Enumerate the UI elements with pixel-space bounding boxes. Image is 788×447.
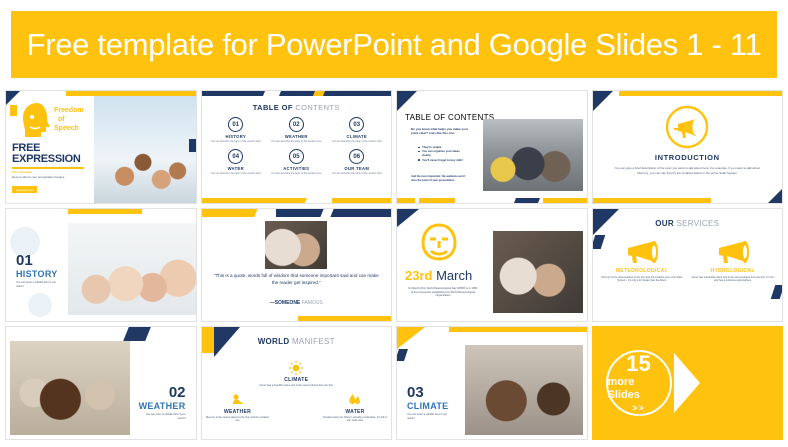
service-item[interactable]: METEOROLOGICAL Mercury is the closest pl… bbox=[599, 239, 686, 282]
manifest-item-weather[interactable]: WEATHER Mercury is the closest planet to… bbox=[206, 393, 270, 423]
list-item: You'll never forget to buy milk! bbox=[418, 158, 469, 162]
toc-number: 03 bbox=[349, 117, 364, 132]
slide-card-cover[interactable]: Freedom of Speech FREE EXPRESSION Free T… bbox=[5, 90, 197, 204]
justice-protest-photo bbox=[465, 345, 583, 435]
manifest-label: WEATHER bbox=[206, 409, 270, 415]
section-label: HISTORY bbox=[16, 269, 58, 279]
megaphone-circle-icon bbox=[665, 105, 709, 149]
services-heading-light: SERVICES bbox=[677, 219, 720, 228]
more-slides-label: more Slides bbox=[608, 376, 670, 400]
title-underline bbox=[12, 167, 84, 169]
cover-body: Here is where your presentation begins. bbox=[12, 175, 72, 179]
slide-card-section-weather[interactable]: 02 WEATHER You can enter a subtitle here… bbox=[5, 326, 197, 440]
section-label: CLIMATE bbox=[407, 401, 448, 411]
manifest-desc: Despite being red, Mars is actually a co… bbox=[323, 416, 387, 423]
sun-icon bbox=[289, 361, 303, 375]
toc-label: ACTIVITIES bbox=[268, 166, 325, 171]
manifest-desc: Venus has a beautiful name and is the se… bbox=[258, 384, 336, 387]
date-bold: 23rd bbox=[405, 268, 432, 283]
section-number: 01 bbox=[16, 253, 33, 268]
toc-list-intro: Do you know what helps you make your poi… bbox=[411, 127, 469, 135]
toc-number: 06 bbox=[349, 149, 364, 164]
services-heading: OUR SERVICES bbox=[593, 219, 783, 228]
service-desc: Mercury is the closest planet to the Sun… bbox=[599, 276, 686, 283]
toc-label: OUR TEAM bbox=[329, 166, 386, 171]
service-desc: Venus has a beautiful name and is the se… bbox=[689, 276, 776, 283]
toc-desc: You can describe the topic of the sectio… bbox=[208, 172, 265, 175]
chevron-right-icon: >> bbox=[632, 403, 645, 413]
toc-list-outro: And the most important: the audience won… bbox=[411, 175, 469, 182]
slide-card-introduction[interactable]: INTRODUCTION You can give a brief descri… bbox=[592, 90, 784, 204]
protester-with-sign-photo bbox=[265, 221, 327, 269]
introduction-title: INTRODUCTION bbox=[593, 153, 783, 162]
corner-accent-icon bbox=[593, 91, 613, 111]
toc-number: 02 bbox=[289, 117, 304, 132]
slide-card-our-services[interactable]: OUR SERVICES METEOROLOGICAL Mercury is t… bbox=[592, 208, 784, 322]
corner-accent-icon bbox=[397, 327, 425, 349]
toc-desc: You can describe the topic of the sectio… bbox=[329, 172, 386, 175]
megaphone-icon bbox=[624, 239, 660, 265]
toc-label: CLIMATE bbox=[329, 134, 386, 139]
manifest-item-water[interactable]: WATER Despite being red, Mars is actuall… bbox=[323, 393, 387, 423]
date-light: March bbox=[436, 268, 472, 283]
toc-item[interactable]: 05 ACTIVITIES You can describe the topic… bbox=[268, 149, 325, 175]
slides-grid: Freedom of Speech FREE EXPRESSION Free T… bbox=[5, 90, 783, 440]
toc-item[interactable]: 04 WATER You can describe the topic of t… bbox=[208, 149, 265, 175]
quote-text: "This is a quote, words full of wisdom t… bbox=[214, 273, 380, 287]
megaphone-shouting-photo bbox=[493, 231, 583, 313]
more-slides-cta-card[interactable]: 15 more Slides >> bbox=[592, 326, 784, 440]
quote-author-bold: —SOMEONE bbox=[270, 300, 301, 306]
megaphone-icon bbox=[715, 239, 751, 265]
toc-heading-bold: TABLE OF bbox=[253, 103, 293, 112]
manifest-heading-bold: WORLD bbox=[258, 337, 290, 346]
section-desc: You can enter a subtitle here if you nee… bbox=[140, 413, 186, 420]
toc-desc: You can describe the topic of the sectio… bbox=[208, 140, 265, 143]
water-icon bbox=[348, 393, 362, 407]
slide-card-date[interactable]: 23rd March On March 23rd, World Meteorol… bbox=[396, 208, 588, 322]
toc-heading-light: CONTENTS bbox=[295, 103, 339, 112]
toc-item[interactable]: 01 HISTORY You can describe the topic of… bbox=[208, 117, 265, 143]
cover-eyebrow-1: Freedom bbox=[54, 107, 84, 114]
toc-desc: You can describe the topic of the sectio… bbox=[329, 140, 386, 143]
header-banner: Free template for PowerPoint and Google … bbox=[11, 11, 777, 78]
pollution-protest-photo bbox=[10, 341, 130, 435]
section-desc: You can enter a subtitle here if you nee… bbox=[407, 413, 451, 420]
slide-card-section-climate[interactable]: 03 CLIMATE You can enter a subtitle here… bbox=[396, 326, 588, 440]
manifest-label: WATER bbox=[323, 409, 387, 415]
slide-card-table-of-contents[interactable]: TABLE OF CONTENTS 01 HISTORY You can des… bbox=[201, 90, 393, 204]
corner-accent-icon bbox=[123, 327, 151, 341]
list-item: You can organize your ideas clearly bbox=[418, 149, 469, 157]
toc-desc: You can describe the topic of the sectio… bbox=[268, 140, 325, 143]
service-label: HYDROLOGICAL bbox=[689, 268, 776, 274]
slide-card-toc-list[interactable]: TABLE OF CONTENTS Do you know what helps… bbox=[396, 90, 588, 204]
page-title: Free template for PowerPoint and Google … bbox=[27, 27, 762, 63]
corner-accent-icon bbox=[768, 189, 782, 203]
corner-accent-icon bbox=[397, 91, 417, 111]
raised-fists-photo bbox=[94, 96, 196, 203]
corner-accent-icon bbox=[6, 91, 20, 105]
corner-accent-icon bbox=[397, 209, 419, 227]
toc-desc: You can describe the topic of the sectio… bbox=[268, 172, 325, 175]
toc-label: HISTORY bbox=[208, 134, 265, 139]
slide-card-world-manifest[interactable]: WORLD MANIFEST CLIMATE Venus has a beaut… bbox=[201, 326, 393, 440]
introduction-body: You can give a brief description of the … bbox=[609, 166, 767, 175]
section-label: WEATHER bbox=[139, 401, 186, 411]
manifest-heading: WORLD MANIFEST bbox=[202, 337, 392, 346]
section-desc: You can enter a subtitle here if you nee… bbox=[16, 281, 62, 288]
toc-heading: TABLE OF CONTENTS bbox=[202, 103, 392, 112]
quote-author: —SOMEONE FAMOUS bbox=[202, 300, 392, 306]
decor-circle bbox=[28, 293, 52, 317]
manifest-item-climate[interactable]: CLIMATE Venus has a beautiful name and i… bbox=[258, 361, 336, 387]
cover-title-line2: EXPRESSION bbox=[12, 154, 81, 165]
date-desc: On March 23rd, World Meteorological Day … bbox=[407, 287, 479, 298]
head-silhouette-icon bbox=[20, 101, 54, 139]
service-label: METEOROLOGICAL bbox=[599, 268, 686, 274]
taped-mouths-photo bbox=[68, 223, 196, 315]
services-heading-bold: OUR bbox=[655, 219, 674, 228]
toc-number: 05 bbox=[289, 149, 304, 164]
toc-item[interactable]: 06 OUR TEAM You can describe the topic o… bbox=[329, 149, 386, 175]
toc-bullet-list: They're simple You can organize your ide… bbox=[413, 145, 469, 162]
more-slides-circle[interactable]: 15 more Slides >> bbox=[606, 350, 672, 416]
date-heading: 23rd March bbox=[405, 269, 472, 282]
toc-number: 04 bbox=[228, 149, 243, 164]
cover-eyebrow-2: of bbox=[58, 116, 65, 123]
section-number: 02 bbox=[169, 385, 186, 400]
manifest-label: CLIMATE bbox=[258, 377, 336, 383]
cover-subtitle: Free Template bbox=[12, 170, 32, 174]
cloud-icon bbox=[231, 393, 245, 407]
page-root: Free template for PowerPoint and Google … bbox=[0, 0, 788, 447]
slide-card-quote[interactable]: "This is a quote, words full of wisdom t… bbox=[201, 208, 393, 322]
more-slides-count: 15 bbox=[626, 353, 650, 375]
arrow-right-icon[interactable] bbox=[674, 353, 700, 413]
cover-cta-button[interactable]: slidesppt.net bbox=[12, 186, 37, 193]
slide-card-section-history[interactable]: 01 HISTORY You can enter a subtitle here… bbox=[5, 208, 197, 322]
toc-label: WEATHER bbox=[268, 134, 325, 139]
toc-item[interactable]: 02 WEATHER You can describe the topic of… bbox=[268, 117, 325, 143]
protest-crowd-photo bbox=[483, 119, 583, 191]
manifest-heading-light: MANIFEST bbox=[292, 337, 335, 346]
manifest-desc: Mercury is the closest planet to the Sun… bbox=[206, 416, 270, 423]
quote-author-light: FAMOUS bbox=[302, 300, 323, 306]
face-outline-icon bbox=[419, 223, 459, 265]
section-number: 03 bbox=[407, 385, 424, 400]
toc-number: 01 bbox=[228, 117, 243, 132]
toc-label: WATER bbox=[208, 166, 265, 171]
toc-list-heading: TABLE OF CONTENTS bbox=[405, 113, 494, 122]
toc-item[interactable]: 03 CLIMATE You can describe the topic of… bbox=[329, 117, 386, 143]
service-item[interactable]: HYDROLOGICAL Venus has a beautiful name … bbox=[689, 239, 776, 282]
cover-eyebrow-3: Speech bbox=[54, 125, 79, 132]
